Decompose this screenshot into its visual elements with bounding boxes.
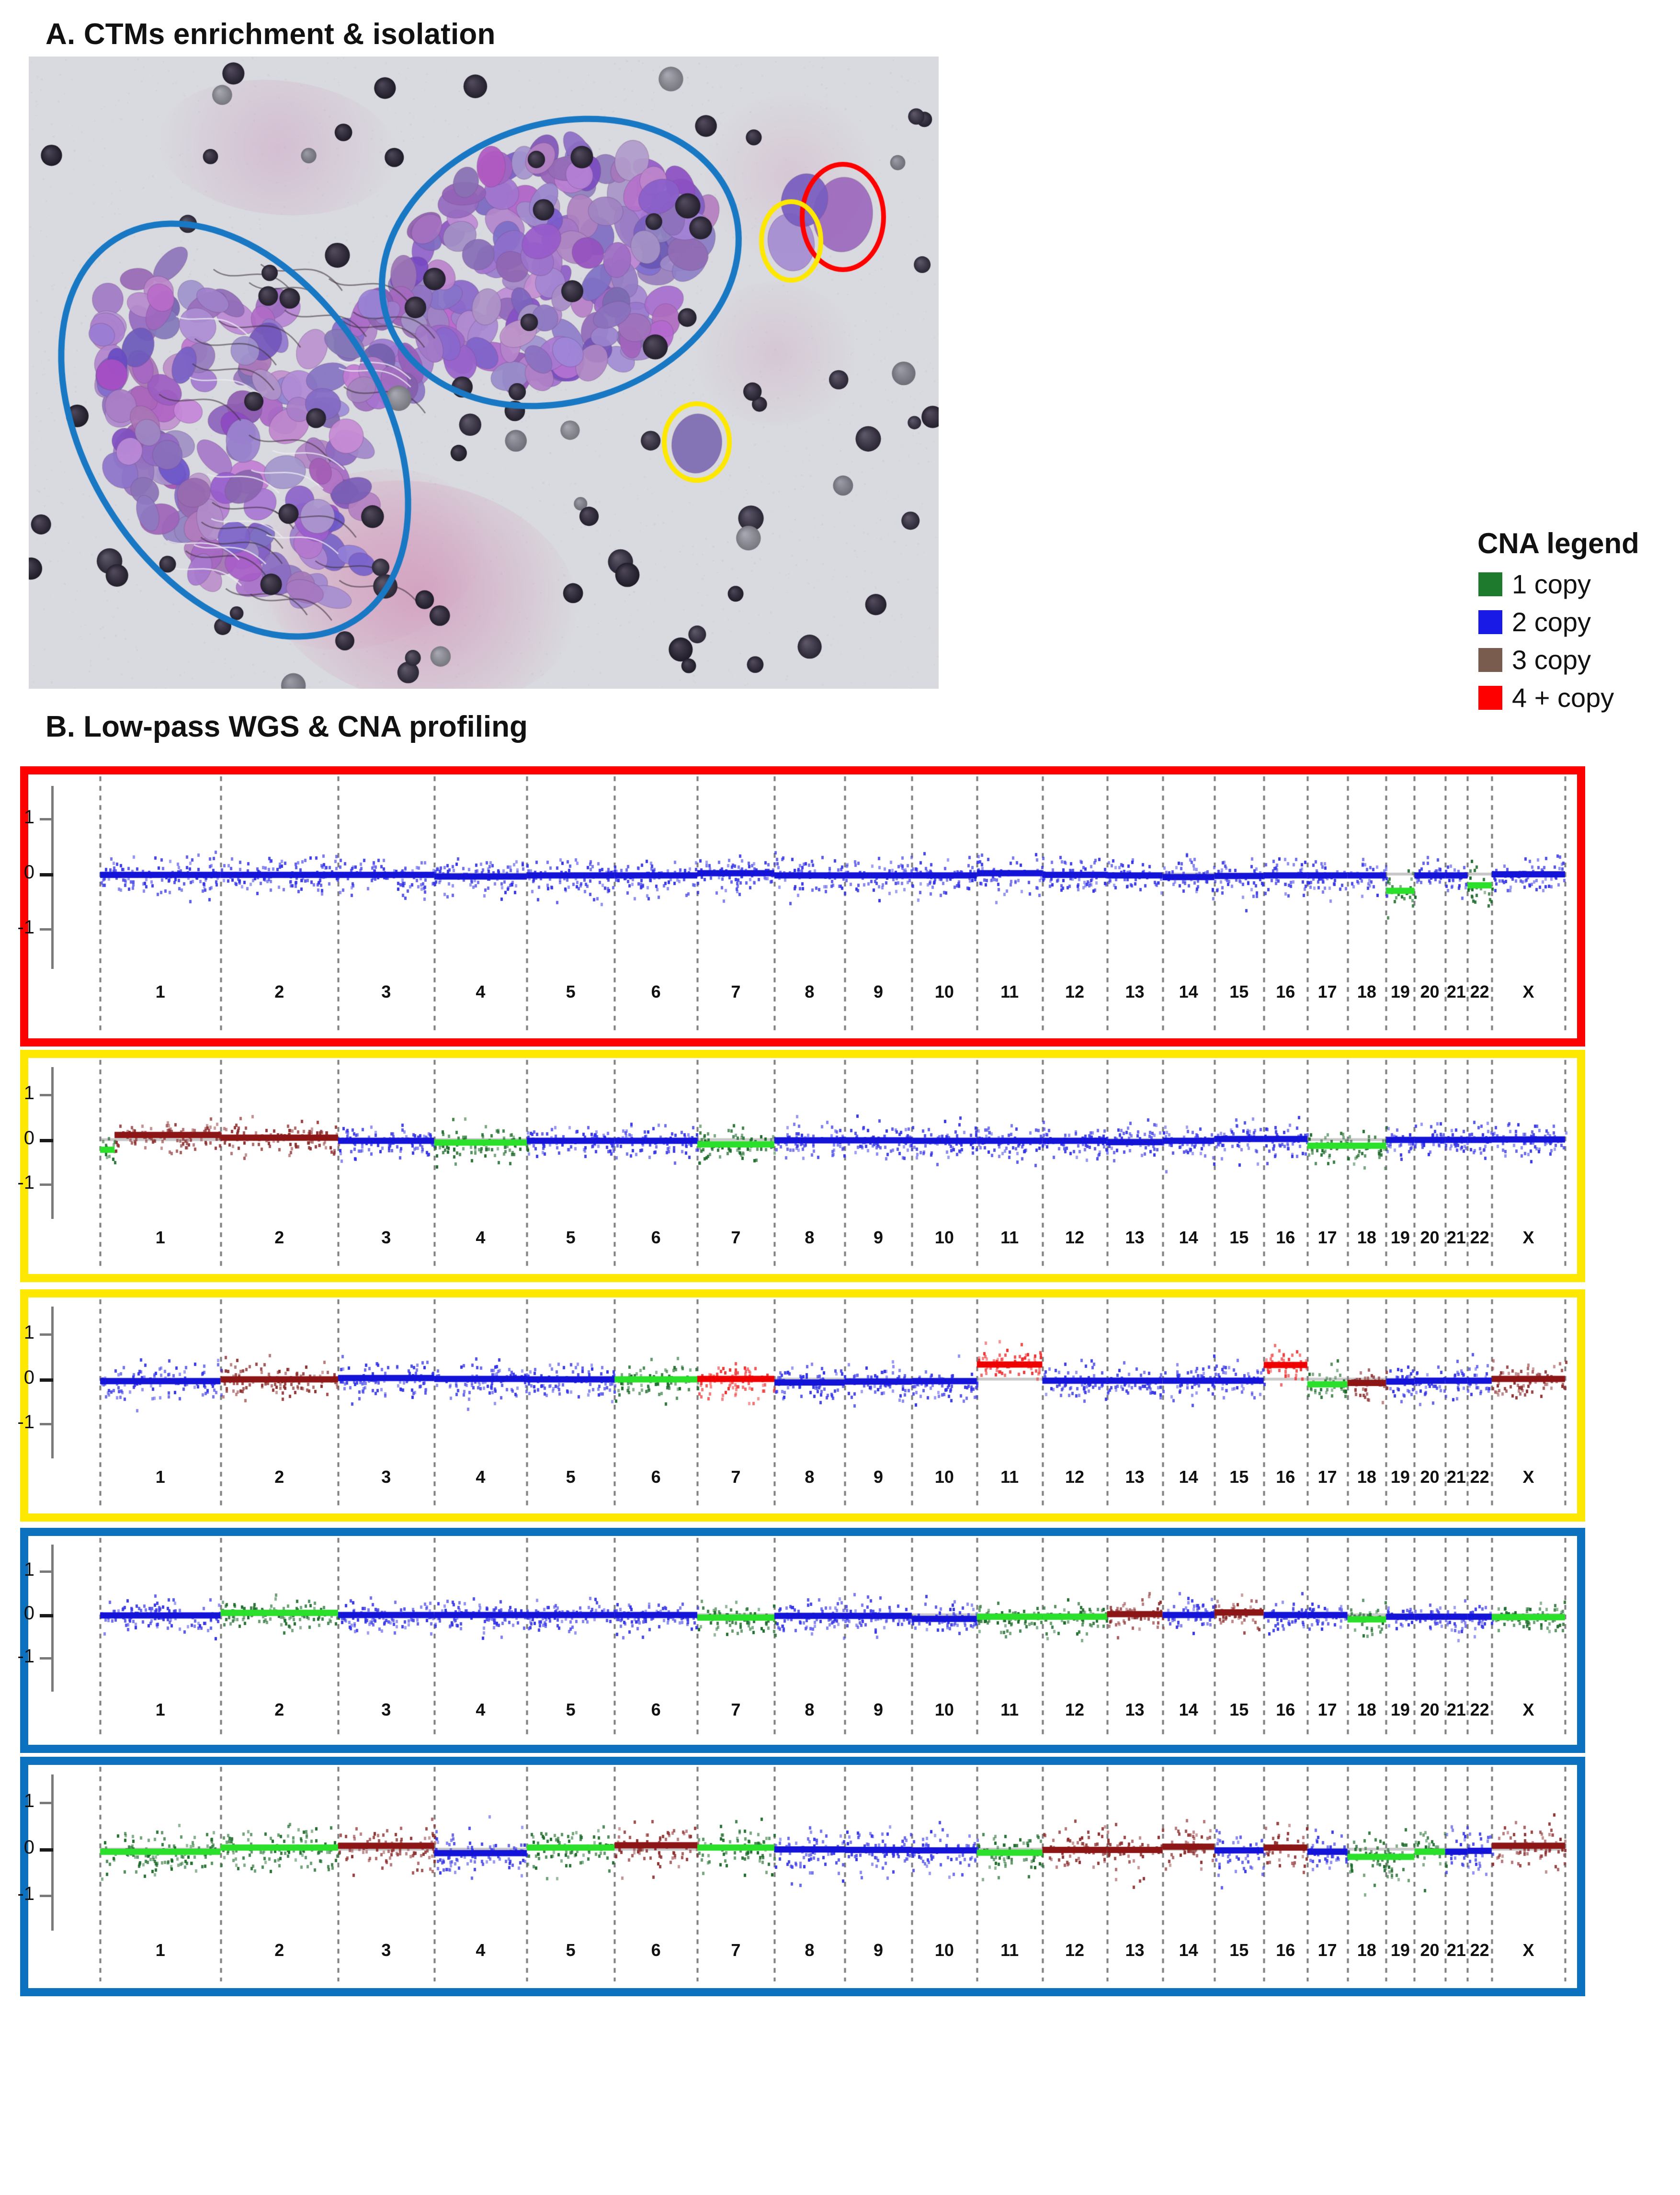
chrom-label-11: 11: [1000, 1940, 1019, 1960]
y-tick-1: [40, 818, 53, 820]
y-axis-line: [51, 1307, 54, 1458]
y-tick-label: -1: [1, 917, 34, 938]
y-tick-1: [40, 1333, 53, 1336]
chrom-label-15: 15: [1229, 1940, 1249, 1960]
chrom-label-11: 11: [1000, 1228, 1019, 1248]
y-tick-1: [40, 1570, 53, 1573]
chrom-label-19: 19: [1391, 1940, 1410, 1960]
chrom-label-19: 19: [1391, 1467, 1410, 1487]
chrom-label-19: 19: [1391, 982, 1410, 1002]
cna-panel-ctc-yellow-1: 10-112345678910111213141516171819202122X: [20, 1050, 1585, 1282]
y-tick-label: 0: [1, 1127, 34, 1149]
cna-legend: CNA legend 1 copy2 copy3 copy4 + copy: [1473, 527, 1674, 720]
chrom-label-10: 10: [935, 982, 954, 1002]
chrom-label-20: 20: [1420, 1700, 1439, 1720]
chrom-label-5: 5: [566, 982, 576, 1002]
chrom-label-12: 12: [1065, 1467, 1084, 1487]
chrom-label-9: 9: [874, 1228, 883, 1248]
chrom-label-3: 3: [381, 1228, 391, 1248]
chrom-label-18: 18: [1357, 1940, 1376, 1960]
cna-plot-area: 10-112345678910111213141516171819202122X: [28, 1297, 1577, 1513]
chrom-label-X: X: [1522, 1467, 1534, 1487]
chrom-label-8: 8: [805, 1228, 814, 1248]
chrom-label-7: 7: [731, 1700, 740, 1720]
cna-panel-ctc-red: 10-112345678910111213141516171819202122X: [20, 766, 1585, 1046]
cna-panel-ctm-blue-1: 10-112345678910111213141516171819202122X: [20, 1528, 1585, 1753]
cna-scatter-canvas: [28, 1536, 1577, 1745]
chrom-label-5: 5: [566, 1700, 576, 1720]
chrom-label-8: 8: [805, 1700, 814, 1720]
chrom-label-12: 12: [1065, 982, 1084, 1002]
legend-swatch-icon: [1478, 610, 1502, 634]
chrom-label-15: 15: [1229, 1700, 1249, 1720]
chrom-label-18: 18: [1357, 1700, 1376, 1720]
chrom-label-16: 16: [1276, 1940, 1295, 1960]
y-tick-label: 0: [1, 1367, 34, 1388]
chrom-label-9: 9: [874, 982, 883, 1002]
cna-legend-title: CNA legend: [1477, 527, 1674, 560]
y-tick-0: [40, 1848, 53, 1852]
chrom-label-22: 22: [1470, 982, 1489, 1002]
chrom-label-2: 2: [274, 1940, 284, 1960]
chrom-label-21: 21: [1447, 1940, 1466, 1960]
chrom-label-5: 5: [566, 1228, 576, 1248]
chrom-label-14: 14: [1179, 982, 1198, 1002]
chrom-label-X: X: [1522, 982, 1534, 1002]
chrom-label-11: 11: [1000, 1467, 1019, 1487]
chrom-label-16: 16: [1276, 1467, 1295, 1487]
y-axis-line: [51, 786, 54, 969]
chrom-label-21: 21: [1447, 1467, 1466, 1487]
y-tick-label: -1: [1, 1411, 34, 1433]
legend-item-2-copy: 2 copy: [1478, 606, 1674, 637]
chrom-label-X: X: [1522, 1228, 1534, 1248]
chrom-label-17: 17: [1318, 982, 1337, 1002]
y-tick-label: 1: [1, 1559, 34, 1581]
chrom-label-16: 16: [1276, 982, 1295, 1002]
cna-scatter-canvas: [28, 1765, 1577, 1988]
legend-item-label: 1 copy: [1512, 569, 1591, 600]
chrom-label-5: 5: [566, 1940, 576, 1960]
micrograph-image: [29, 57, 939, 689]
chrom-label-18: 18: [1357, 1467, 1376, 1487]
y-tick-minus1: [40, 928, 53, 931]
chrom-label-20: 20: [1420, 982, 1439, 1002]
chrom-label-3: 3: [381, 1940, 391, 1960]
chrom-label-14: 14: [1179, 1228, 1198, 1248]
y-axis-line: [51, 1545, 54, 1692]
cna-plot-area: 10-112345678910111213141516171819202122X: [28, 1765, 1577, 1988]
chrom-label-12: 12: [1065, 1700, 1084, 1720]
chrom-label-15: 15: [1229, 1467, 1249, 1487]
chrom-label-17: 17: [1318, 1228, 1337, 1248]
cna-panel-ctc-yellow-2: 10-112345678910111213141516171819202122X: [20, 1289, 1585, 1522]
legend-item-label: 2 copy: [1512, 606, 1591, 637]
chrom-label-4: 4: [476, 1467, 485, 1487]
chrom-label-6: 6: [651, 1467, 661, 1487]
y-tick-label: 0: [1, 862, 34, 883]
legend-item-4-copy: 4 + copy: [1478, 682, 1674, 713]
chrom-label-6: 6: [651, 982, 661, 1002]
chrom-label-15: 15: [1229, 982, 1249, 1002]
chrom-label-13: 13: [1125, 1467, 1144, 1487]
chrom-label-X: X: [1522, 1940, 1534, 1960]
chrom-label-22: 22: [1470, 1700, 1489, 1720]
chrom-label-13: 13: [1125, 982, 1144, 1002]
chrom-label-20: 20: [1420, 1467, 1439, 1487]
legend-swatch-icon: [1478, 572, 1502, 596]
panel-b-title: B. Low-pass WGS & CNA profiling: [45, 710, 528, 744]
chrom-label-7: 7: [731, 982, 740, 1002]
chrom-label-6: 6: [651, 1700, 661, 1720]
chrom-label-11: 11: [1000, 982, 1019, 1002]
chrom-label-18: 18: [1357, 1228, 1376, 1248]
chrom-label-9: 9: [874, 1940, 883, 1960]
chrom-label-5: 5: [566, 1467, 576, 1487]
chrom-label-10: 10: [935, 1467, 954, 1487]
chrom-label-22: 22: [1470, 1467, 1489, 1487]
chrom-label-2: 2: [274, 982, 284, 1002]
legend-item-3-copy: 3 copy: [1478, 644, 1674, 675]
chrom-label-9: 9: [874, 1700, 883, 1720]
cna-scatter-canvas: [28, 774, 1577, 1038]
chrom-label-8: 8: [805, 982, 814, 1002]
chrom-label-4: 4: [476, 1228, 485, 1248]
chrom-label-4: 4: [476, 982, 485, 1002]
cna-plot-area: 10-112345678910111213141516171819202122X: [28, 1058, 1577, 1274]
panel-a-title: A. CTMs enrichment & isolation: [45, 17, 496, 51]
chrom-label-7: 7: [731, 1940, 740, 1960]
chrom-label-22: 22: [1470, 1940, 1489, 1960]
chrom-label-12: 12: [1065, 1228, 1084, 1248]
chrom-label-14: 14: [1179, 1700, 1198, 1720]
chrom-label-15: 15: [1229, 1228, 1249, 1248]
y-tick-label: 0: [1, 1603, 34, 1624]
chrom-label-1: 1: [156, 1467, 165, 1487]
y-axis-line: [51, 1774, 54, 1931]
chrom-label-8: 8: [805, 1940, 814, 1960]
y-tick-label: 1: [1, 807, 34, 828]
chrom-label-2: 2: [274, 1467, 284, 1487]
chrom-label-12: 12: [1065, 1940, 1084, 1960]
chrom-label-8: 8: [805, 1467, 814, 1487]
chrom-label-4: 4: [476, 1940, 485, 1960]
legend-swatch-icon: [1478, 648, 1502, 672]
y-tick-label: -1: [1, 1172, 34, 1194]
y-tick-0: [40, 1378, 53, 1382]
chrom-label-13: 13: [1125, 1940, 1144, 1960]
chrom-label-6: 6: [651, 1940, 661, 1960]
cna-scatter-canvas: [28, 1297, 1577, 1513]
chrom-label-1: 1: [156, 1228, 165, 1248]
chrom-label-7: 7: [731, 1467, 740, 1487]
cna-panel-ctm-blue-2: 10-112345678910111213141516171819202122X: [20, 1757, 1585, 1996]
y-tick-0: [40, 873, 53, 876]
chrom-label-3: 3: [381, 1700, 391, 1720]
chrom-label-1: 1: [156, 1700, 165, 1720]
chrom-label-13: 13: [1125, 1700, 1144, 1720]
chrom-label-17: 17: [1318, 1940, 1337, 1960]
chrom-label-2: 2: [274, 1700, 284, 1720]
y-tick-minus1: [40, 1183, 53, 1186]
y-tick-label: -1: [1, 1883, 34, 1905]
chrom-label-19: 19: [1391, 1228, 1410, 1248]
chrom-label-17: 17: [1318, 1467, 1337, 1487]
y-tick-1: [40, 1094, 53, 1096]
chrom-label-9: 9: [874, 1467, 883, 1487]
legend-swatch-icon: [1478, 686, 1502, 710]
legend-item-1-copy: 1 copy: [1478, 569, 1674, 600]
chrom-label-16: 16: [1276, 1228, 1295, 1248]
chrom-label-14: 14: [1179, 1940, 1198, 1960]
y-tick-label: 1: [1, 1082, 34, 1104]
chrom-label-6: 6: [651, 1228, 661, 1248]
y-tick-label: 1: [1, 1790, 34, 1812]
chrom-label-X: X: [1522, 1700, 1534, 1720]
cna-scatter-canvas: [28, 1058, 1577, 1274]
cna-plot-area: 10-112345678910111213141516171819202122X: [28, 774, 1577, 1038]
chrom-label-21: 21: [1447, 982, 1466, 1002]
chrom-label-14: 14: [1179, 1467, 1198, 1487]
chrom-label-22: 22: [1470, 1228, 1489, 1248]
cna-plot-area: 10-112345678910111213141516171819202122X: [28, 1536, 1577, 1745]
chrom-label-2: 2: [274, 1228, 284, 1248]
chrom-label-3: 3: [381, 982, 391, 1002]
y-tick-minus1: [40, 1895, 53, 1897]
chrom-label-20: 20: [1420, 1940, 1439, 1960]
chrom-label-1: 1: [156, 982, 165, 1002]
y-tick-minus1: [40, 1423, 53, 1425]
chrom-label-3: 3: [381, 1467, 391, 1487]
chrom-label-21: 21: [1447, 1228, 1466, 1248]
y-tick-0: [40, 1614, 53, 1617]
chrom-label-1: 1: [156, 1940, 165, 1960]
chrom-label-10: 10: [935, 1228, 954, 1248]
chrom-label-20: 20: [1420, 1228, 1439, 1248]
chrom-label-10: 10: [935, 1940, 954, 1960]
chrom-label-13: 13: [1125, 1228, 1144, 1248]
legend-item-label: 4 + copy: [1512, 682, 1614, 713]
chrom-label-19: 19: [1391, 1700, 1410, 1720]
chrom-label-10: 10: [935, 1700, 954, 1720]
y-tick-label: 1: [1, 1322, 34, 1343]
y-tick-minus1: [40, 1657, 53, 1660]
chrom-label-16: 16: [1276, 1700, 1295, 1720]
y-axis-line: [51, 1067, 54, 1219]
y-tick-label: -1: [1, 1646, 34, 1667]
chrom-label-17: 17: [1318, 1700, 1337, 1720]
legend-item-label: 3 copy: [1512, 644, 1591, 675]
chrom-label-11: 11: [1000, 1700, 1019, 1720]
y-tick-1: [40, 1802, 53, 1804]
y-tick-label: 0: [1, 1837, 34, 1858]
chrom-label-7: 7: [731, 1228, 740, 1248]
chrom-label-4: 4: [476, 1700, 485, 1720]
chrom-label-18: 18: [1357, 982, 1376, 1002]
chrom-label-21: 21: [1447, 1700, 1466, 1720]
y-tick-0: [40, 1139, 53, 1142]
